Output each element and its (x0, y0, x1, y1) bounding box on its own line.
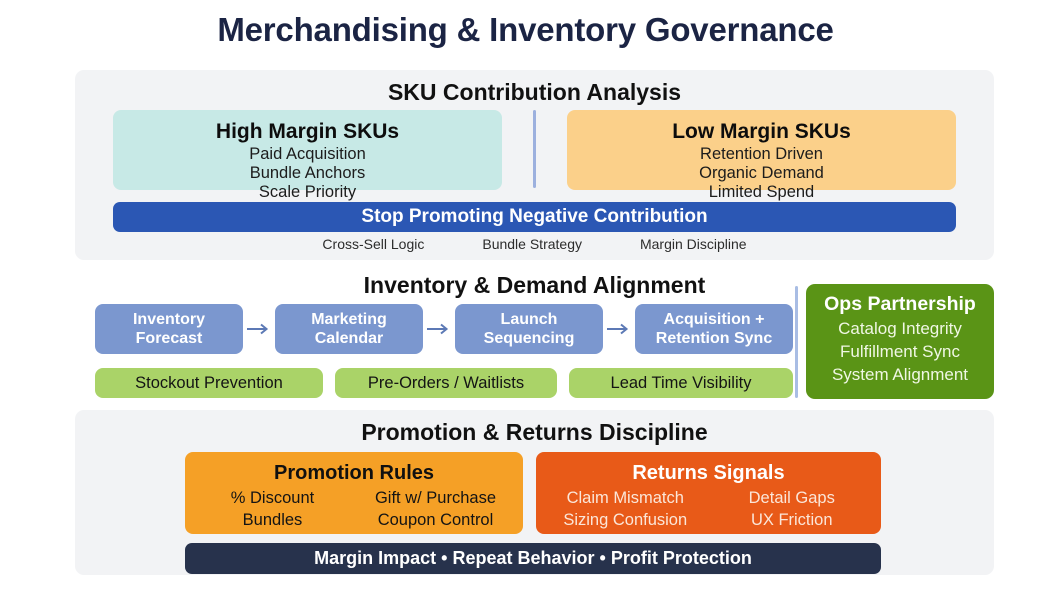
card-high-margin-line-1: Paid Acquisition (113, 145, 502, 164)
card-ops-partnership: Ops Partnership Catalog Integrity Fulfil… (806, 284, 994, 399)
banner-margin-impact-repeat-behavior-profit-protection: Margin Impact • Repeat Behavior • Profit… (185, 543, 881, 574)
section-inventory-demand-alignment: Inventory & Demand Alignment InventoryFo… (75, 272, 994, 404)
section-title-promotion: Promotion & Returns Discipline (75, 419, 994, 446)
ops-partnership-line-3: System Alignment (806, 363, 994, 386)
card-low-margin-line-1: Retention Driven (567, 145, 956, 164)
tag-stockout-prevention[interactable]: Stockout Prevention (95, 368, 323, 398)
section-sku-contribution: SKU Contribution Analysis High Margin SK… (75, 70, 994, 260)
card-high-margin-line-3: Scale Priority (113, 183, 502, 202)
promotion-rules-item-3: Bundles (199, 509, 346, 531)
flow-arrow-1-icon (247, 322, 273, 336)
section-title-sku: SKU Contribution Analysis (75, 79, 994, 106)
returns-signals-item-1: Claim Mismatch (550, 487, 701, 509)
card-low-margin-line-2: Organic Demand (567, 164, 956, 183)
card-returns-signals: Returns Signals Claim Mismatch Detail Ga… (536, 452, 881, 534)
promotion-rules-item-4: Coupon Control (362, 509, 509, 531)
inventory-section-divider (795, 286, 798, 398)
card-high-margin-heading: High Margin SKUs (113, 119, 502, 145)
card-high-margin-skus: High Margin SKUs Paid Acquisition Bundle… (113, 110, 502, 190)
banner-stop-promoting-negative-contribution: Stop Promoting Negative Contribution (113, 202, 956, 232)
promotion-rules-item-1: % Discount (199, 487, 346, 509)
returns-signals-item-3: Sizing Confusion (550, 509, 701, 531)
returns-signals-items: Claim Mismatch Detail Gaps Sizing Confus… (536, 487, 881, 531)
tag-lead-time-visibility[interactable]: Lead Time Visibility (569, 368, 793, 398)
ops-partnership-line-1: Catalog Integrity (806, 317, 994, 340)
returns-signals-item-4: UX Friction (717, 509, 868, 531)
flow-arrow-2-icon (427, 322, 453, 336)
sku-section-divider (533, 110, 536, 188)
flow-arrow-3-icon (607, 322, 633, 336)
card-high-margin-line-2: Bundle Anchors (113, 164, 502, 183)
flow-box-acquisition-retention-sync[interactable]: Acquisition +Retention Sync (635, 304, 793, 354)
flow-box-launch-sequencing[interactable]: LaunchSequencing (455, 304, 603, 354)
page-title: Merchandising & Inventory Governance (0, 11, 1051, 49)
sku-footer-tags: Cross-Sell Logic Bundle Strategy Margin … (113, 236, 956, 252)
tag-pre-orders-waitlists[interactable]: Pre-Orders / Waitlists (335, 368, 557, 398)
footer-tag-cross-sell-logic: Cross-Sell Logic (322, 236, 424, 252)
flow-box-inventory-forecast[interactable]: InventoryForecast (95, 304, 243, 354)
card-low-margin-heading: Low Margin SKUs (567, 119, 956, 145)
promotion-rules-item-2: Gift w/ Purchase (362, 487, 509, 509)
card-low-margin-line-3: Limited Spend (567, 183, 956, 202)
returns-signals-item-2: Detail Gaps (717, 487, 868, 509)
card-low-margin-skus: Low Margin SKUs Retention Driven Organic… (567, 110, 956, 190)
footer-tag-margin-discipline: Margin Discipline (640, 236, 747, 252)
ops-partnership-line-2: Fulfillment Sync (806, 340, 994, 363)
returns-signals-heading: Returns Signals (536, 460, 881, 487)
promotion-rules-items: % Discount Gift w/ Purchase Bundles Coup… (185, 487, 523, 531)
card-promotion-rules: Promotion Rules % Discount Gift w/ Purch… (185, 452, 523, 534)
footer-tag-bundle-strategy: Bundle Strategy (482, 236, 582, 252)
section-promotion-returns-discipline: Promotion & Returns Discipline Promotion… (75, 410, 994, 575)
promotion-rules-heading: Promotion Rules (185, 460, 523, 487)
flow-box-marketing-calendar[interactable]: MarketingCalendar (275, 304, 423, 354)
ops-partnership-heading: Ops Partnership (806, 292, 994, 317)
